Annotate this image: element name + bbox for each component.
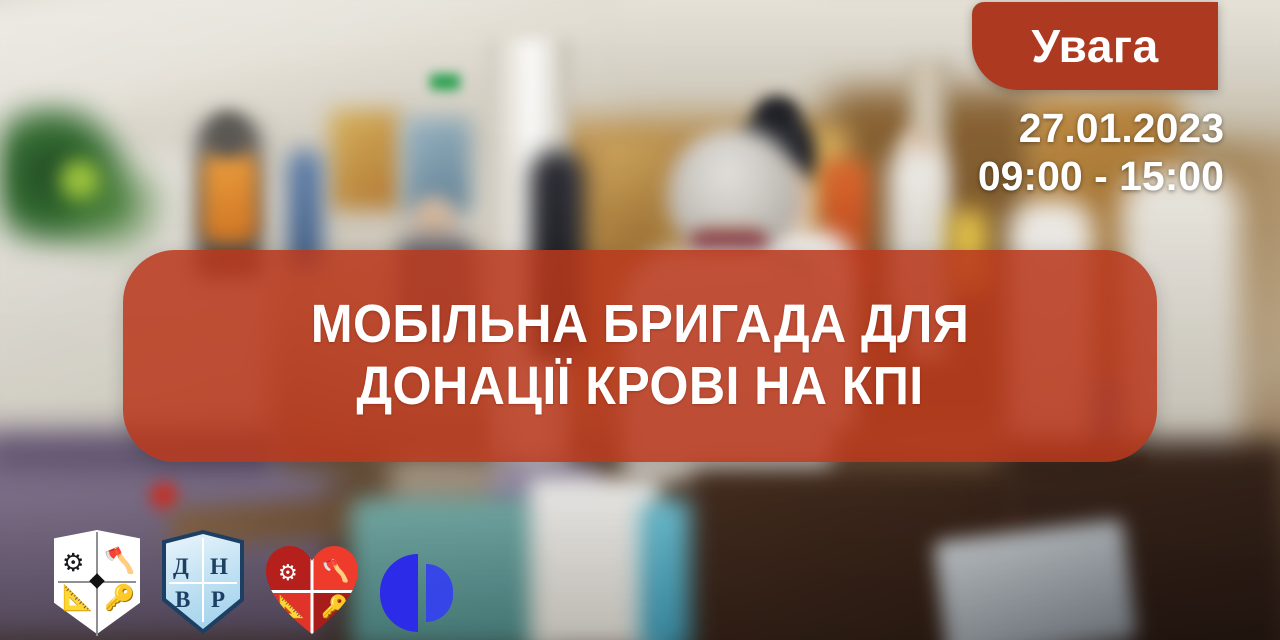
gear-icon: ⚙: [62, 551, 84, 576]
person-orange-vest: [202, 152, 258, 244]
event-title: МОБІЛЬНА БРИГАДА ДЛЯ ДОНАЦІЇ КРОВІ НА КП…: [311, 294, 969, 417]
dnvr-letter-d: Д: [173, 555, 189, 578]
dnvr-shield-divider-vertical: [202, 538, 204, 622]
blue-circle-left-half: [380, 554, 418, 632]
person-vest-head: [208, 112, 248, 156]
event-schedule: 27.01.2023 09:00 - 15:00: [978, 104, 1224, 201]
dnvr-shield-divider-horizontal: [169, 582, 237, 584]
attention-badge-label: Увага: [1031, 23, 1158, 69]
blue-circle-right-half: [426, 564, 453, 622]
dnvr-shield-logo: Д Н В Р: [162, 530, 244, 634]
dnvr-letter-r: Р: [211, 588, 225, 611]
kpi-shield-logo: ⚙ 🪓 📐 🔑: [54, 530, 140, 634]
title-banner: МОБІЛЬНА БРИГАДА ДЛЯ ДОНАЦІЇ КРОВІ НА КП…: [123, 250, 1157, 462]
attention-badge: Увага: [972, 2, 1218, 90]
blue-split-circle-logo: [380, 552, 452, 634]
event-time: 09:00 - 15:00: [978, 152, 1224, 200]
foreground-red-object: [150, 482, 178, 510]
gear-icon: ⚙: [278, 562, 298, 584]
dnvr-letter-v: В: [175, 588, 190, 611]
dnvr-letter-n: Н: [210, 555, 228, 578]
wall-picture-1: [330, 110, 400, 210]
axe-icon: 🪓: [104, 549, 135, 574]
compass-icon: 📐: [62, 586, 93, 611]
plant-highlight: [60, 160, 100, 200]
heart-logo: ⚙ 🪓 📐 🔑: [266, 546, 358, 634]
event-title-line-1: МОБІЛЬНА БРИГАДА ДЛЯ: [311, 294, 969, 356]
heart-shape: ⚙ 🪓 📐 🔑: [266, 546, 358, 634]
event-date: 27.01.2023: [978, 104, 1224, 152]
event-title-line-2: ДОНАЦІЇ КРОВІ НА КПІ: [311, 356, 969, 418]
keys-icon: 🔑: [321, 596, 348, 618]
person-bun-knot: [756, 96, 798, 132]
logo-row: ⚙ 🪓 📐 🔑 Д Н В Р ⚙ 🪓 📐 🔑: [54, 530, 452, 634]
axe-icon: 🪓: [322, 560, 349, 582]
exit-sign: [430, 74, 460, 90]
keys-icon: 🔑: [104, 586, 135, 611]
heart-divider-horizontal: [266, 590, 358, 593]
compass-icon: 📐: [278, 596, 305, 618]
wall-picture-3: [600, 140, 660, 250]
